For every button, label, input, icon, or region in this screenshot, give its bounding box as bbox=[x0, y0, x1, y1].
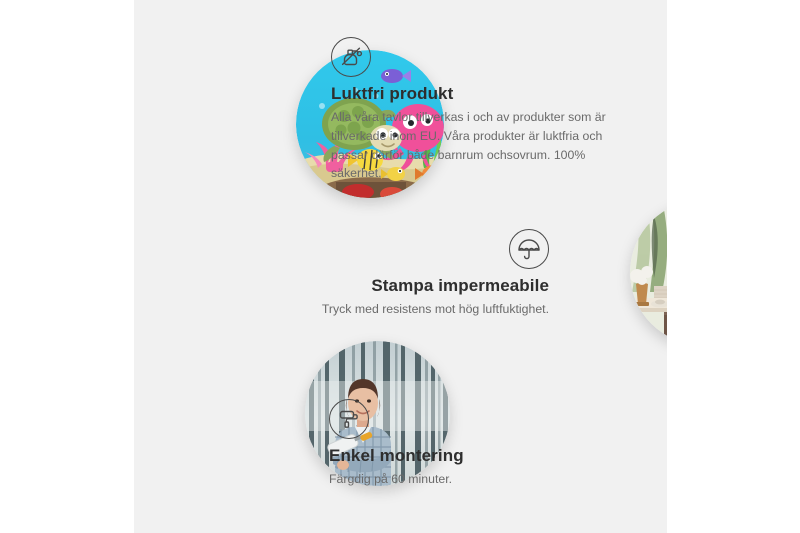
paint-roller-icon bbox=[329, 399, 369, 439]
feature-title: Stampa impermeabile bbox=[209, 276, 549, 296]
bathroom-illustration bbox=[630, 200, 667, 345]
no-fragrance-icon bbox=[331, 37, 371, 77]
feature-description: Färgdig på 60 minuter. bbox=[329, 470, 609, 489]
content-panel: Luktfri produkt Alla våra tavlor tillver… bbox=[134, 0, 667, 533]
feature-description: Tryck med resistens mot hög luftfuktighe… bbox=[209, 300, 549, 319]
feature-title: Luktfri produkt bbox=[331, 84, 631, 104]
umbrella-icon bbox=[509, 229, 549, 269]
page-root: Luktfri produkt Alla våra tavlor tillver… bbox=[0, 0, 800, 533]
product-image-bathroom[interactable] bbox=[630, 200, 667, 345]
feature-title: Enkel montering bbox=[329, 446, 609, 466]
feature-block-luktfri: Luktfri produkt Alla våra tavlor tillver… bbox=[331, 37, 631, 183]
feature-description: Alla våra tavlor tillverkas i och av pro… bbox=[331, 108, 631, 183]
feature-block-impermeabile: Stampa impermeabile Tryck med resistens … bbox=[209, 229, 549, 319]
feature-block-montering: Enkel montering Färgdig på 60 minuter. bbox=[329, 399, 609, 489]
